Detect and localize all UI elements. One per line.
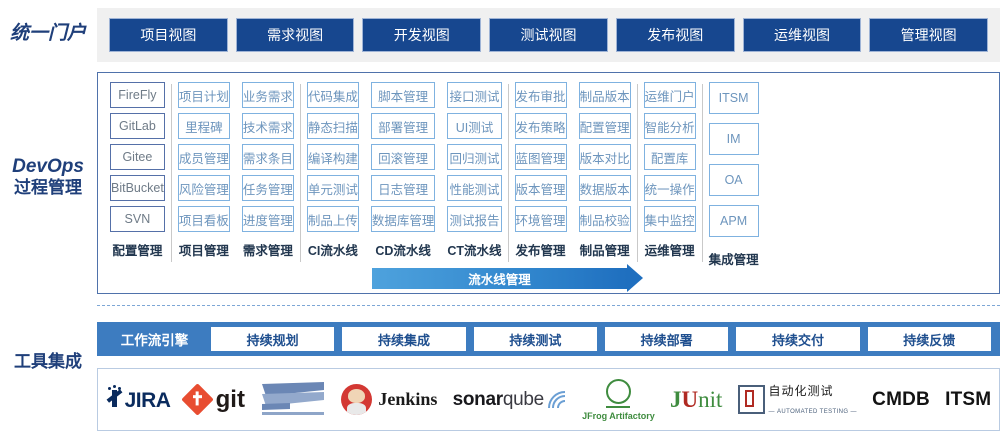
workflow-stage-2[interactable]: 持续集成 — [342, 327, 465, 351]
cmdb-logo: CMDB — [872, 378, 930, 422]
capability-cell[interactable]: 发布策略 — [515, 113, 567, 139]
devops-column-title: 发布管理 — [515, 240, 567, 259]
section-label-tool-integration: 工具集成 — [0, 352, 96, 373]
sonarqube-wave-icon — [547, 390, 567, 410]
capability-cell[interactable]: 成员管理 — [178, 144, 230, 170]
portal-view-button-5[interactable]: 发布视图 — [616, 18, 735, 52]
devops-column-title: CT流水线 — [447, 240, 501, 259]
capability-cell[interactable]: 版本管理 — [515, 175, 567, 201]
capability-cell[interactable]: 智能分析 — [644, 113, 696, 139]
workflow-stage-6[interactable]: 持续反馈 — [868, 327, 991, 351]
automated-testing-en: — AUTOMATED TESTING — — [769, 409, 857, 415]
column-group: FireFlyGitLabGiteeBitBucketSVN配置管理 — [104, 82, 171, 259]
devops-column-6: 接口测试UI测试回归测试性能测试测试报告CT流水线 — [441, 82, 507, 259]
capability-cell[interactable]: 数据版本 — [579, 175, 631, 201]
column-group: 代码集成静态扫描编译构建单元测试制品上传CI流水线脚本管理部署管理回滚管理日志管… — [301, 82, 508, 259]
devops-column-4: 代码集成静态扫描编译构建单元测试制品上传CI流水线 — [301, 82, 365, 259]
sonarqube-wordmark-bold: sonar — [453, 389, 503, 411]
devops-column-9: 运维门户智能分析配置库统一操作集中监控运维管理 — [638, 82, 702, 259]
capability-cell[interactable]: 蓝图管理 — [515, 144, 567, 170]
jira-logo: JIRA — [106, 378, 171, 422]
portal-view-button-6[interactable]: 运维视图 — [743, 18, 862, 52]
automated-testing-cn: 自动化测试 — [769, 384, 834, 398]
portal-view-button-7[interactable]: 管理视图 — [869, 18, 988, 52]
capability-cell[interactable]: 代码集成 — [307, 82, 359, 108]
capability-cell[interactable]: ITSM — [709, 82, 759, 114]
devops-column-title: CI流水线 — [307, 240, 359, 259]
subversion-mark-icon — [260, 380, 326, 420]
capability-cell[interactable]: 统一操作 — [644, 175, 696, 201]
automated-testing-logo: 自动化测试— AUTOMATED TESTING — — [738, 378, 857, 422]
subversion-logo — [260, 378, 326, 422]
capability-cell[interactable]: 日志管理 — [371, 175, 436, 201]
capability-cell[interactable]: 数据库管理 — [371, 206, 436, 232]
column-group: 运维门户智能分析配置库统一操作集中监控运维管理 — [638, 82, 702, 259]
devops-label-en: DevOps — [0, 155, 96, 178]
workflow-engine-title: 工作流引擎 — [102, 329, 207, 349]
capability-cell[interactable]: 发布审批 — [515, 82, 567, 108]
junit-wordmark: JUnit — [670, 387, 722, 413]
capability-cell[interactable]: 编译构建 — [307, 144, 359, 170]
unified-portal-bar: 项目视图需求视图开发视图测试视图发布视图运维视图管理视图 — [97, 8, 1000, 62]
tool-logo-strip: JIRAgitJenkinssonarqubeJFrog Artifactory… — [97, 368, 1000, 431]
devops-column-3: 业务需求技术需求需求条目任务管理进度管理需求管理 — [236, 82, 300, 259]
devops-column-7: 发布审批发布策略蓝图管理版本管理环境管理发布管理 — [509, 82, 573, 259]
devops-column-title: 需求管理 — [242, 240, 294, 259]
capability-cell[interactable]: 配置管理 — [579, 113, 631, 139]
capability-cell[interactable]: 任务管理 — [242, 175, 294, 201]
pipeline-management-arrow: 流水线管理 — [372, 268, 627, 289]
capability-cell[interactable]: 制品版本 — [579, 82, 631, 108]
capability-cell[interactable]: OA — [709, 164, 759, 196]
workflow-stage-1[interactable]: 持续规划 — [211, 327, 334, 351]
section-label-unified-portal: 统一门户 — [0, 22, 96, 45]
workflow-engine-bar: 工作流引擎 持续规划持续集成持续测试持续部署持续交付持续反馈 — [97, 322, 1000, 356]
devops-column-title: 项目管理 — [178, 240, 230, 259]
capability-cell[interactable]: 制品校验 — [579, 206, 631, 232]
devops-column-2: 项目计划里程碑成员管理风险管理项目看板项目管理 — [172, 82, 236, 259]
capability-cell[interactable]: 集中监控 — [644, 206, 696, 232]
capability-cell[interactable]: 配置库 — [644, 144, 696, 170]
section-label-devops: DevOps 过程管理 — [0, 155, 96, 199]
portal-view-button-4[interactable]: 测试视图 — [489, 18, 608, 52]
capability-cell[interactable]: GitLab — [110, 113, 165, 139]
capability-cell[interactable]: 制品上传 — [307, 206, 359, 232]
cmdb-wordmark: CMDB — [872, 389, 930, 411]
devops-column-title: 制品管理 — [579, 240, 631, 259]
jfrog-ring-icon — [606, 379, 631, 404]
capability-cell[interactable]: 进度管理 — [242, 206, 294, 232]
devops-column-title: 配置管理 — [110, 240, 165, 259]
sonarqube-wordmark-light: qube — [503, 389, 544, 411]
capability-cell[interactable]: 脚本管理 — [371, 82, 436, 108]
capability-cell[interactable]: SVN — [110, 206, 165, 232]
column-group: 发布审批发布策略蓝图管理版本管理环境管理发布管理制品版本配置管理版本对比数据版本… — [509, 82, 637, 259]
capability-cell[interactable]: 业务需求 — [242, 82, 294, 108]
jenkins-wordmark: Jenkins — [378, 389, 437, 410]
portal-view-button-3[interactable]: 开发视图 — [362, 18, 481, 52]
capability-cell[interactable]: 项目看板 — [178, 206, 230, 232]
capability-cell[interactable]: 环境管理 — [515, 206, 567, 232]
devops-column-title: CD流水线 — [371, 240, 436, 259]
capability-cell[interactable]: BitBucket — [110, 175, 165, 201]
column-group: 项目计划里程碑成员管理风险管理项目看板项目管理业务需求技术需求需求条目任务管理进… — [172, 82, 300, 259]
portal-view-button-2[interactable]: 需求视图 — [236, 18, 355, 52]
capability-cell[interactable]: UI测试 — [447, 113, 501, 139]
jenkins-butler-icon — [341, 384, 372, 415]
devops-column-1: FireFlyGitLabGiteeBitBucketSVN配置管理 — [104, 82, 171, 259]
devops-column-wrap: FireFlyGitLabGiteeBitBucketSVN配置管理项目计划里程… — [98, 73, 999, 259]
jfrog-bar-icon — [606, 406, 630, 408]
itsm-wordmark: ITSM — [945, 389, 991, 411]
devops-column-10: ITSMIMOAAPM集成管理 — [703, 82, 765, 268]
junit-logo: JUnit — [670, 378, 722, 422]
capability-cell[interactable]: 回滚管理 — [371, 144, 436, 170]
capability-cell[interactable]: 需求条目 — [242, 144, 294, 170]
workflow-stage-3[interactable]: 持续测试 — [474, 327, 597, 351]
capability-cell[interactable]: 里程碑 — [178, 113, 230, 139]
devops-process-panel: FireFlyGitLabGiteeBitBucketSVN配置管理项目计划里程… — [97, 72, 1000, 294]
jira-wordmark: JIRA — [125, 389, 171, 412]
column-group: ITSMIMOAAPM集成管理 — [703, 82, 765, 268]
devops-label-cn: 过程管理 — [0, 178, 96, 199]
capability-cell[interactable]: 版本对比 — [579, 144, 631, 170]
jfrog-artifactory-logo: JFrog Artifactory — [582, 378, 655, 422]
git-wordmark: git — [216, 386, 245, 414]
devops-column-title: 运维管理 — [644, 240, 696, 259]
automated-testing-door-icon — [738, 385, 765, 414]
devops-column-title: 集成管理 — [709, 249, 759, 268]
capability-cell[interactable]: 项目计划 — [178, 82, 230, 108]
capability-cell[interactable]: 部署管理 — [371, 113, 436, 139]
capability-cell[interactable]: FireFly — [110, 82, 165, 108]
portal-view-button-1[interactable]: 项目视图 — [109, 18, 228, 52]
capability-cell[interactable]: APM — [709, 205, 759, 237]
capability-cell[interactable]: 单元测试 — [307, 175, 359, 201]
itsm-logo: ITSM — [945, 378, 991, 422]
workflow-stage-4[interactable]: 持续部署 — [605, 327, 728, 351]
jfrog-wordmark: JFrog Artifactory — [582, 411, 655, 421]
capability-cell[interactable]: 风险管理 — [178, 175, 230, 201]
section-divider-dashed — [97, 305, 1000, 306]
git-logo: git — [186, 378, 245, 422]
capability-cell[interactable]: 接口测试 — [447, 82, 501, 108]
capability-cell[interactable]: 运维门户 — [644, 82, 696, 108]
git-diamond-icon — [181, 383, 214, 416]
devops-column-5: 脚本管理部署管理回滚管理日志管理数据库管理CD流水线 — [365, 82, 442, 259]
pipeline-arrow-label: 流水线管理 — [468, 269, 531, 288]
capability-cell[interactable]: IM — [709, 123, 759, 155]
capability-cell[interactable]: 性能测试 — [447, 175, 501, 201]
capability-cell[interactable]: 回归测试 — [447, 144, 501, 170]
devops-column-8: 制品版本配置管理版本对比数据版本制品校验制品管理 — [573, 82, 637, 259]
jenkins-logo: Jenkins — [341, 378, 437, 422]
capability-cell[interactable]: 静态扫描 — [307, 113, 359, 139]
capability-cell[interactable]: Gitee — [110, 144, 165, 170]
sonarqube-logo: sonarqube — [453, 378, 567, 422]
capability-cell[interactable]: 测试报告 — [447, 206, 501, 232]
capability-cell[interactable]: 技术需求 — [242, 113, 294, 139]
workflow-stage-5[interactable]: 持续交付 — [736, 327, 859, 351]
